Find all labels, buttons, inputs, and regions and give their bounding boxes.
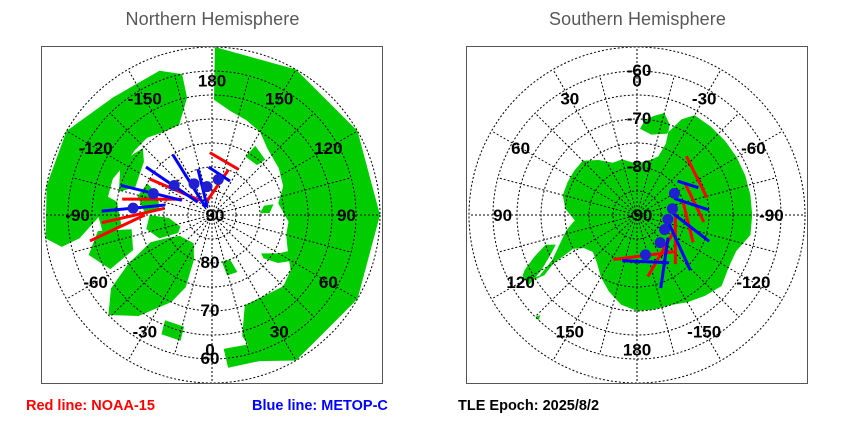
northern-hemisphere-panel: Northern Hemisphere 90807060306090120150… (0, 0, 425, 425)
grid-label: 90 (493, 206, 512, 225)
satellite-position-marker (201, 181, 212, 192)
legend-red-line: Red line: NOAA-15 (26, 398, 155, 414)
satellite-position-marker (148, 188, 159, 199)
grid-label: -120 (79, 139, 113, 158)
grid-label: 120 (506, 273, 534, 292)
grid-label: -30 (133, 322, 158, 341)
grid-label: 60 (511, 139, 530, 158)
grid-label: -60 (83, 273, 108, 292)
satellite-position-marker (128, 203, 139, 214)
grid-label: 120 (314, 139, 342, 158)
grid-label: -120 (736, 273, 770, 292)
landmass-polygon (533, 351, 538, 357)
grid-label: 60 (319, 273, 338, 292)
satellite-position-marker (662, 214, 673, 225)
grid-label: -30 (692, 90, 717, 109)
southern-hemisphere-panel: Southern Hemisphere -90-80-70-6003060901… (425, 0, 850, 425)
grid-label: 180 (623, 340, 651, 359)
legend-blue-line: Blue line: METOP-C (252, 398, 388, 414)
grid-label: -90 (759, 206, 784, 225)
satellite-position-marker (659, 224, 670, 235)
grid-label: 30 (560, 90, 579, 109)
grid-label: 90 (206, 206, 225, 225)
grid-label: 80 (201, 253, 220, 272)
tle-epoch-label: TLE Epoch: 2025/8/2 (458, 398, 599, 414)
satellite-track-figure: Northern Hemisphere 90807060306090120150… (0, 0, 850, 425)
grid-label: -90 (65, 206, 90, 225)
satellite-position-marker (213, 174, 224, 185)
northern-plot-area: 90807060306090120150180-150-120-90-60-30… (42, 47, 382, 383)
southern-plot-frame: -90-80-70-600306090120150180-150-120-90-… (466, 46, 808, 384)
grid-label: 150 (556, 322, 584, 341)
grid-label: -150 (128, 90, 162, 109)
southern-panel-title: Southern Hemisphere (425, 9, 850, 30)
grid-label: 0 (205, 340, 214, 359)
satellite-position-marker (655, 237, 666, 248)
satellite-position-marker (669, 188, 680, 199)
grid-label: 0 (632, 72, 641, 91)
grid-label: 90 (337, 206, 356, 225)
grid-label: 30 (270, 322, 289, 341)
southern-polar-map: -90-80-70-600306090120150180-150-120-90-… (467, 47, 807, 383)
satellite-position-marker (667, 203, 678, 214)
grid-label: 70 (201, 301, 220, 320)
satellite-position-marker (169, 180, 180, 191)
southern-plot-area: -90-80-70-600306090120150180-150-120-90-… (467, 47, 807, 383)
grid-label: -80 (627, 157, 652, 176)
grid-label: -150 (687, 322, 721, 341)
satellite-position-marker (640, 249, 651, 260)
northern-plot-frame: 90807060306090120150180-150-120-90-60-30… (41, 46, 383, 384)
grid-label: -90 (628, 206, 653, 225)
grid-label: 150 (265, 90, 293, 109)
metopc-track-segment (622, 261, 669, 263)
grid-label: 180 (198, 72, 226, 91)
grid-label: -60 (741, 139, 766, 158)
northern-panel-title: Northern Hemisphere (0, 9, 425, 30)
satellite-position-marker (189, 178, 200, 189)
grid-label: -70 (627, 109, 652, 128)
northern-polar-map: 90807060306090120150180-150-120-90-60-30… (42, 47, 382, 383)
